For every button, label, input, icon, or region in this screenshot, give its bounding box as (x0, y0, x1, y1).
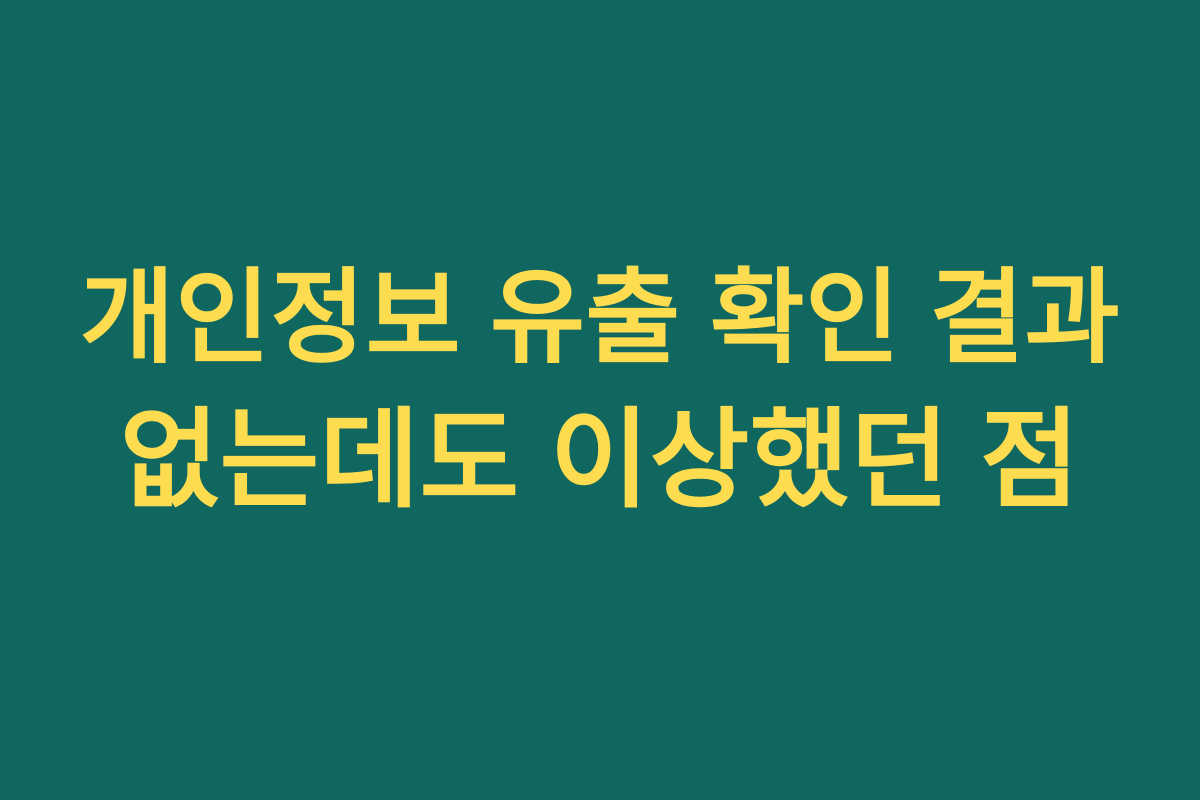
headline-line-2: 없는데도 이상했던 점 (120, 396, 1080, 523)
thumbnail-canvas: 개인정보 유출 확인 결과 없는데도 이상했던 점 (0, 0, 1200, 800)
headline-block: 개인정보 유출 확인 결과 없는데도 이상했던 점 (0, 257, 1200, 524)
headline-line-1: 개인정보 유출 확인 결과 (80, 257, 1120, 379)
